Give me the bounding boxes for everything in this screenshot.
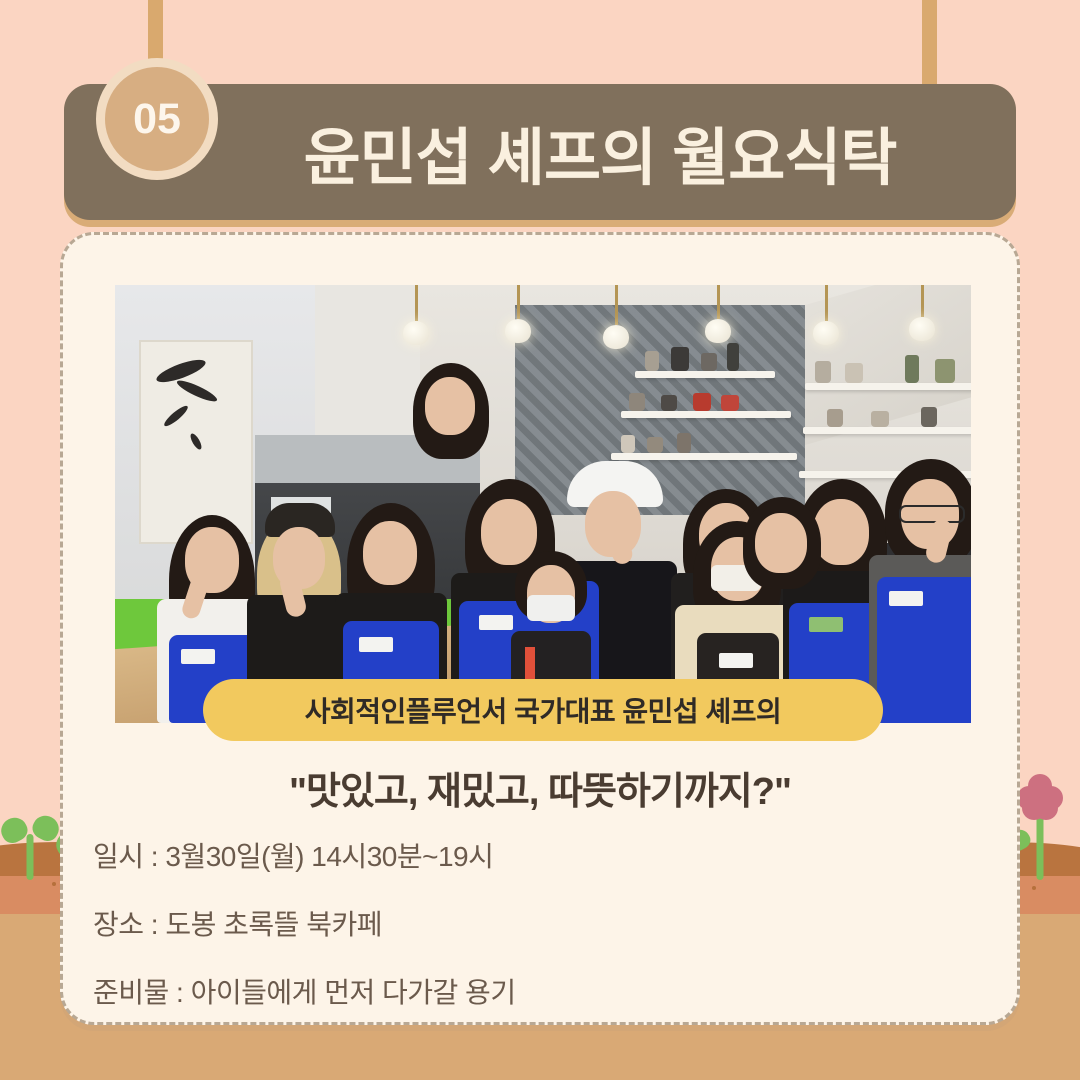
wall-shelf [805, 383, 971, 390]
pendant-light [603, 325, 629, 349]
pendant-light [909, 317, 935, 341]
name-tag [359, 637, 393, 652]
person-figure [395, 363, 505, 663]
pottery-item [871, 411, 889, 427]
pottery-item [629, 393, 645, 411]
lamp-cord [717, 285, 720, 319]
ink-stroke [188, 432, 203, 451]
person-head [755, 513, 807, 573]
name-tag [889, 591, 923, 606]
pottery-item [677, 433, 691, 453]
pottery-item [701, 353, 717, 371]
flower-head [1017, 774, 1063, 818]
pottery-item [661, 395, 677, 411]
pottery-item [647, 437, 663, 453]
lamp-cord [825, 285, 828, 321]
pendant-light [813, 321, 839, 345]
section-number-badge: 05 [96, 58, 218, 180]
lamp-cord [517, 285, 520, 319]
pendant-light [403, 321, 429, 345]
pendant-light [505, 319, 531, 343]
soil-speck [1032, 886, 1036, 890]
pottery-item [645, 351, 659, 371]
pottery-item [935, 359, 955, 383]
event-photo [115, 285, 971, 723]
pottery-item [621, 435, 635, 453]
pottery-item [921, 407, 937, 427]
pottery-item [815, 361, 831, 383]
plant-stem [1037, 814, 1044, 880]
wall-shelf [803, 427, 971, 434]
ink-stroke [175, 377, 219, 405]
pendant-light [705, 319, 731, 343]
content-card: 사회적인플루언서 국가대표 윤민섭 셰프의 "맛있고, 재밌고, 따뜻하기까지?… [60, 232, 1020, 1025]
pottery-item [727, 343, 739, 371]
pottery-item [721, 395, 739, 411]
lamp-cord [921, 285, 924, 317]
pottery-item [905, 355, 919, 383]
person-figure [863, 457, 971, 723]
pottery-item [693, 393, 711, 411]
poster-canvas: 윤민섭 셰프의 월요식탁 05 [0, 0, 1080, 1080]
wall-shelf [621, 411, 791, 418]
pottery-item [671, 347, 689, 371]
face-mask [527, 595, 575, 621]
pottery-item [827, 409, 843, 427]
wall-shelf [611, 453, 797, 460]
caption-pill: 사회적인플루언서 국가대표 윤민섭 셰프의 [203, 679, 883, 741]
sprout-plant-left-1 [2, 810, 58, 880]
name-tag [181, 649, 215, 664]
lamp-cord [415, 285, 418, 321]
person-head [425, 377, 475, 435]
flower-plant-right [1014, 784, 1066, 880]
event-details: 일시 : 3월30일(월) 14시30분~19시 장소 : 도봉 초록뜰 북카페… [93, 835, 516, 1039]
detail-line-place: 장소 : 도봉 초록뜰 북카페 [93, 903, 516, 943]
plant-stem [27, 834, 34, 880]
flower-petal [1034, 796, 1058, 820]
eyeglasses [899, 505, 965, 523]
wall-shelf [635, 371, 775, 378]
detail-line-prep: 준비물 : 아이들에게 먼저 다가갈 용기 [93, 971, 516, 1011]
detail-line-date: 일시 : 3월30일(월) 14시30분~19시 [93, 835, 516, 875]
soil-speck [52, 882, 56, 886]
pottery-item [845, 363, 863, 383]
ink-stroke [162, 403, 190, 428]
quote-text: "맛있고, 재밌고, 따뜻하기까지?" [63, 760, 1017, 815]
lamp-cord [615, 285, 618, 325]
